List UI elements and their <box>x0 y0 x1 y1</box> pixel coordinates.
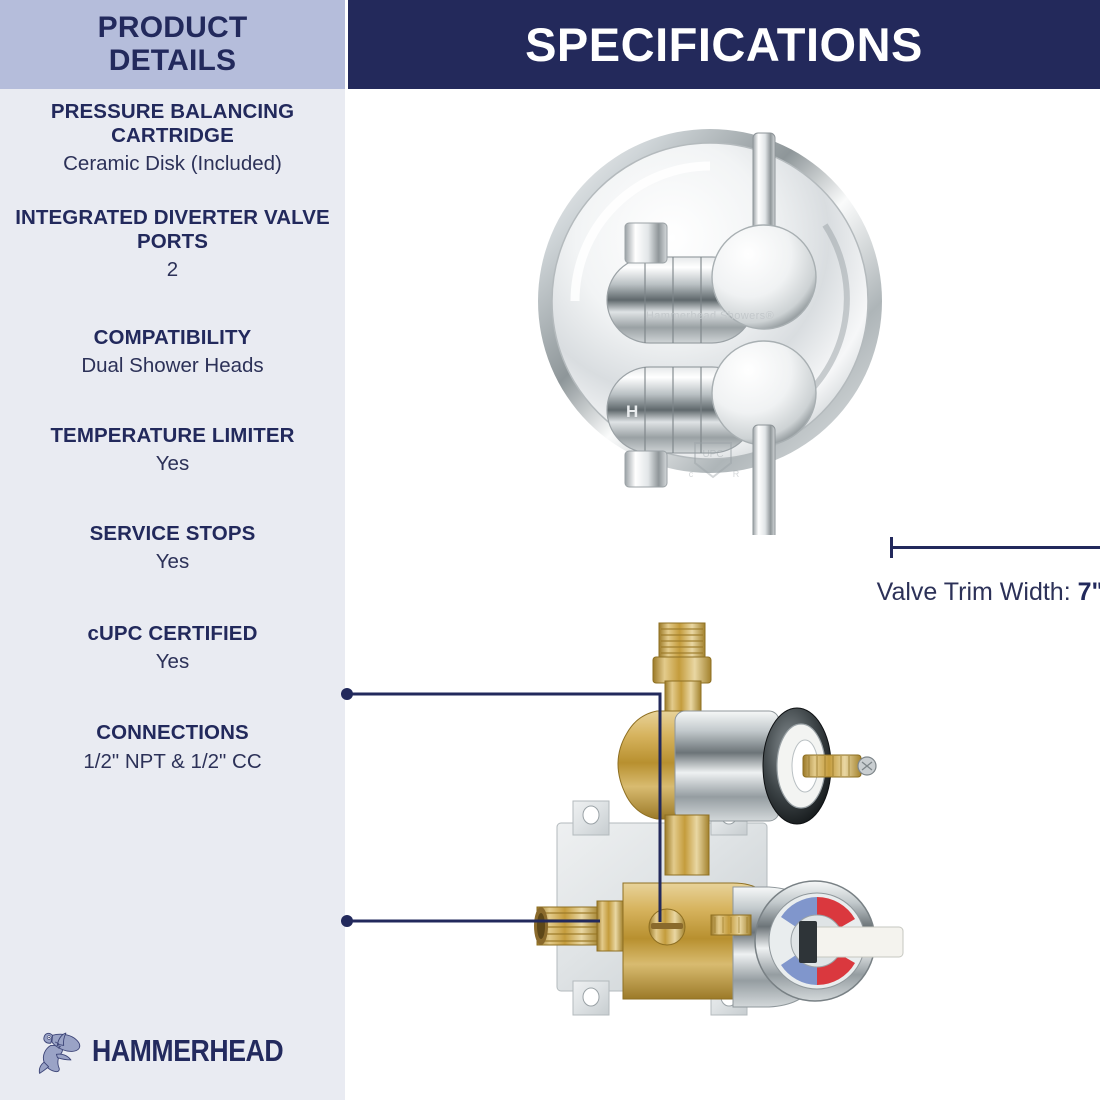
spec-item-compatibility: COMPATIBILITY Dual Shower Heads <box>0 326 345 380</box>
spec-label: SERVICE STOPS <box>8 522 337 546</box>
spec-value: Yes <box>8 451 337 478</box>
spec-value: 1/2" NPT & 1/2" CC <box>8 749 337 776</box>
brand-logo-text: HAMMERHEAD <box>92 1033 283 1069</box>
specifications-header: SPECIFICATIONS <box>348 0 1100 89</box>
trim-engraving-text: Hammerhead Showers® <box>646 310 774 322</box>
spec-label: PRESSURE BALANCING CARTRIDGE <box>8 100 337 148</box>
spec-value: Ceramic Disk (Included) <box>8 151 337 178</box>
sidebar-header-line-1: PRODUCT <box>98 12 248 44</box>
specifications-panel: SPECIFICATIONS <box>345 0 1100 1100</box>
spec-item-service-stops: SERVICE STOPS Yes <box>0 522 345 576</box>
sidebar-header: PRODUCT DETAILS <box>0 0 345 89</box>
dimension-rule <box>890 546 1100 549</box>
spec-item-cupc-certified: cUPC CERTIFIED Yes <box>0 622 345 676</box>
cupc-shield-sub-left: c <box>689 469 694 479</box>
product-details-sidebar: PRODUCT DETAILS PRESSURE BALANCING CARTR… <box>0 0 345 1100</box>
spec-value: Dual Shower Heads <box>8 353 337 380</box>
rough-in-valve-image <box>515 615 935 1075</box>
cupc-shield-label: UPC <box>702 449 723 460</box>
spec-label: INTEGRATED DIVERTER VALVE PORTS <box>8 206 337 254</box>
spec-item-connections: CONNECTIONS 1/2" NPT & 1/2" CC <box>0 721 345 775</box>
spec-value: 2 <box>8 257 337 284</box>
spec-value: Yes <box>8 549 337 576</box>
spec-label: cUPC CERTIFIED <box>8 622 337 646</box>
spec-item-temperature-limiter: TEMPERATURE LIMITER Yes <box>0 424 345 478</box>
spec-label: TEMPERATURE LIMITER <box>8 424 337 448</box>
dimension-caption-label: Valve Trim Width: <box>877 578 1078 606</box>
spec-value: Yes <box>8 649 337 676</box>
valve-trim-dimension-line <box>890 533 1100 561</box>
service-stop-screw <box>649 909 685 945</box>
spec-label: COMPATIBILITY <box>8 326 337 350</box>
npt-connection-port <box>534 901 623 951</box>
dimension-caption-value: 7" <box>1078 578 1100 606</box>
spec-list: PRESSURE BALANCING CARTRIDGE Ceramic Dis… <box>0 100 345 805</box>
brand-logo: HAMMERHEAD <box>34 1020 274 1082</box>
sidebar-header-title: PRODUCT DETAILS <box>98 12 248 77</box>
valve-trim-width-caption: Valve Trim Width: 7" <box>770 578 1100 607</box>
spec-item-integrated-diverter-valve-ports: INTEGRATED DIVERTER VALVE PORTS 2 <box>0 206 345 284</box>
svg-text:H: H <box>626 402 638 421</box>
hammerhead-shark-icon <box>34 1023 90 1079</box>
sidebar-header-line-2: DETAILS <box>98 45 248 77</box>
product-spec-infographic: PRODUCT DETAILS PRESSURE BALANCING CARTR… <box>0 0 1100 1100</box>
spec-label: CONNECTIONS <box>8 721 337 745</box>
spec-item-pressure-balancing-cartridge: PRESSURE BALANCING CARTRIDGE Ceramic Dis… <box>0 100 345 178</box>
pressure-balance-cartridge-face <box>755 881 903 1001</box>
cupc-shield-sub-right: R <box>733 469 740 479</box>
valve-trim-image: Hammerhead Showers® H UPC c <box>495 105 925 535</box>
specifications-title: SPECIFICATIONS <box>525 17 923 72</box>
